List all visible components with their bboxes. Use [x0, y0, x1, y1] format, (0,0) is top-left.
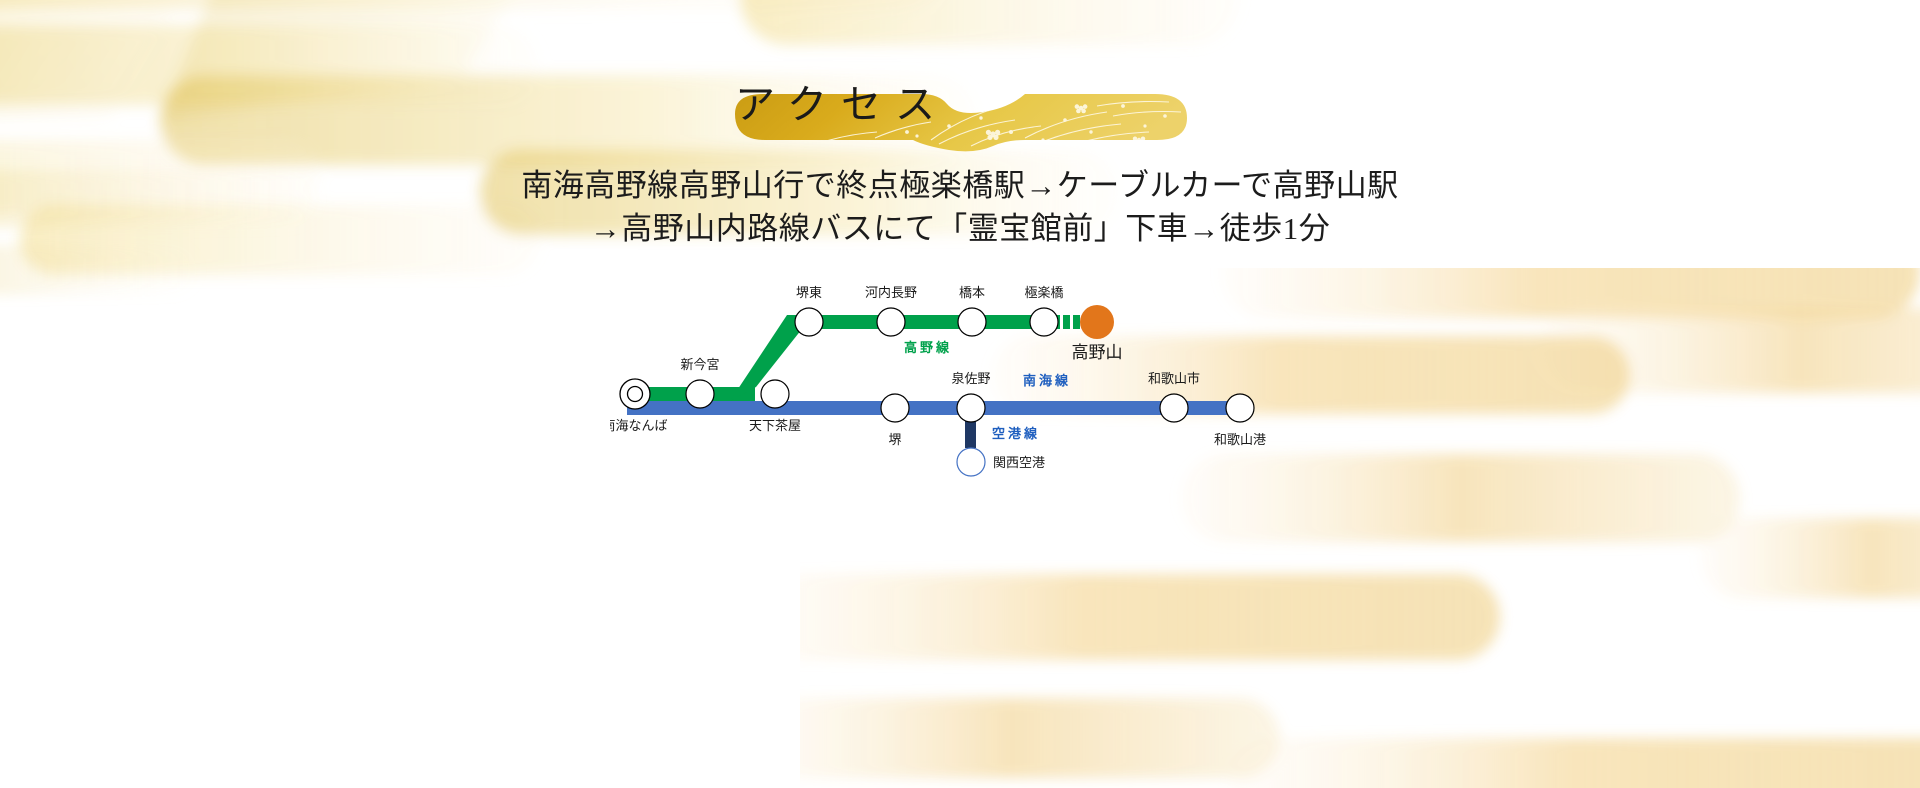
line-label-koya: 高野線: [904, 340, 952, 355]
station-label-gokurakubashi: 極楽橋: [1024, 285, 1063, 300]
station-label-nankai-namba: 南海なんば: [610, 418, 668, 433]
line-label-nankai: 南海線: [1023, 373, 1071, 388]
station-label-shin-imamiya: 新今宮: [680, 357, 719, 372]
station-label-izumisano: 泉佐野: [951, 371, 990, 386]
station-sakai-higashi[interactable]: 堺東: [795, 285, 823, 336]
railway-map: 南海なんば 新今宮 天下茶屋 堺東 河内長野: [0, 268, 1920, 498]
station-kansai-airport[interactable]: 関西空港: [957, 448, 1045, 476]
page-title-block: アクセス: [0, 60, 1920, 170]
station-label-tengachaya: 天下茶屋: [749, 418, 801, 433]
station-sakai[interactable]: 堺: [881, 394, 909, 447]
page-title: アクセス: [735, 72, 949, 130]
station-hashimoto[interactable]: 橋本: [958, 285, 986, 336]
nankai-line-track: [627, 401, 1227, 415]
station-label-sakai-higashi: 堺東: [796, 285, 822, 300]
route-description: 南海高野線高野山行で終点極楽橋駅→ケーブルカーで高野山駅 →高野山内路線バスにて…: [0, 166, 1920, 250]
station-label-wakayama-ko: 和歌山港: [1214, 432, 1266, 447]
railway-map-svg: 南海なんば 新今宮 天下茶屋 堺東 河内長野: [610, 268, 1310, 483]
station-label-koyasan: 高野山: [1072, 343, 1123, 362]
line-label-airport: 空港線: [992, 426, 1040, 441]
station-label-wakayama-shi: 和歌山市: [1148, 371, 1200, 386]
route-description-line-2: →高野山内路線バスにて「霊宝館前」下車→徒歩1分: [0, 209, 1920, 250]
station-label-hashimoto: 橋本: [959, 285, 985, 300]
route-description-line-1: 南海高野線高野山行で終点極楽橋駅→ケーブルカーで高野山駅: [0, 166, 1920, 207]
station-label-kawachinagano: 河内長野: [865, 285, 917, 300]
station-koyasan[interactable]: 高野山: [1072, 305, 1123, 362]
station-label-sakai: 堺: [888, 432, 901, 447]
station-label-kansai-airport: 関西空港: [993, 455, 1045, 470]
access-page: アクセス 南海高野線高野山行で終点極楽橋駅→ケーブルカーで高野山駅 →高野山内路…: [0, 0, 1920, 788]
